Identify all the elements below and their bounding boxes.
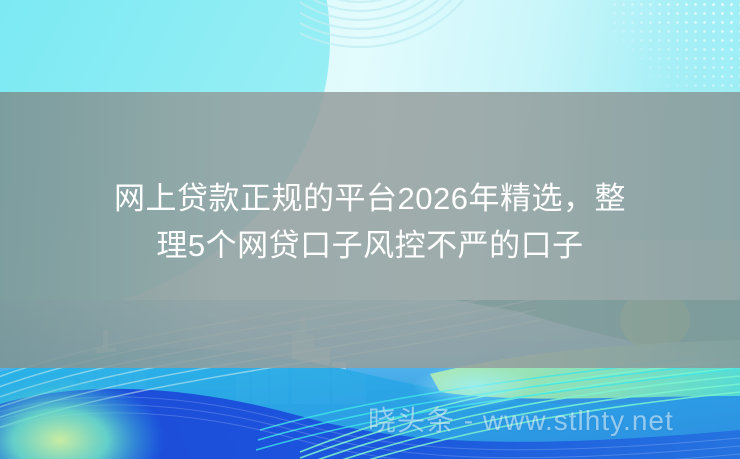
site-watermark: 晓头条 - www.stlhty.net <box>368 404 674 438</box>
poster-image: 网上贷款正规的平台2026年精选，整 理5个网贷口子风控不严的口子 晓头条 - … <box>0 0 740 459</box>
title-line-1: 网上贷款正规的平台2026年精选，整 <box>28 175 712 222</box>
concentric-arc-lines-decor <box>300 0 560 70</box>
halftone-dot-decor <box>610 0 740 100</box>
title-line-2: 理5个网贷口子风控不严的口子 <box>28 222 712 269</box>
poster-title: 网上贷款正规的平台2026年精选，整 理5个网贷口子风控不严的口子 <box>0 175 740 269</box>
